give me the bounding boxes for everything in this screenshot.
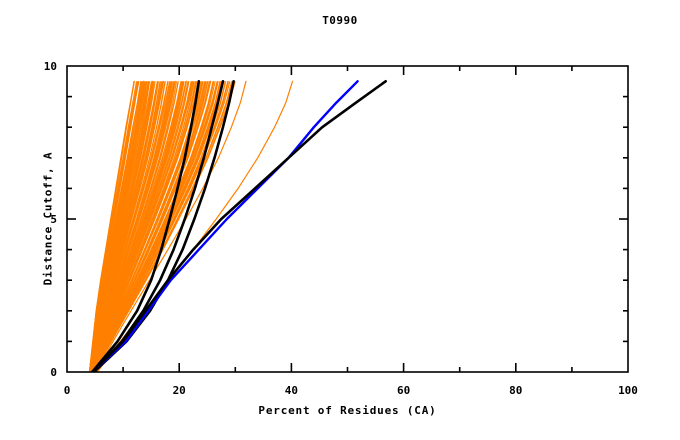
chart-figure: T0990 Distance Cutoff, A Percent of Resi… [0,0,680,440]
y-tick-label: 10 [44,60,57,73]
x-tick-label: 20 [173,384,186,397]
x-tick-label: 0 [64,384,71,397]
curves-layer [89,81,385,372]
x-tick-label: 100 [618,384,638,397]
x-tick-label: 60 [397,384,410,397]
y-tick-label: 5 [50,213,57,226]
plot-area: 0204060801000510 [0,0,680,440]
x-tick-label: 80 [509,384,522,397]
y-tick-label: 0 [50,366,57,379]
x-tick-label: 40 [285,384,298,397]
